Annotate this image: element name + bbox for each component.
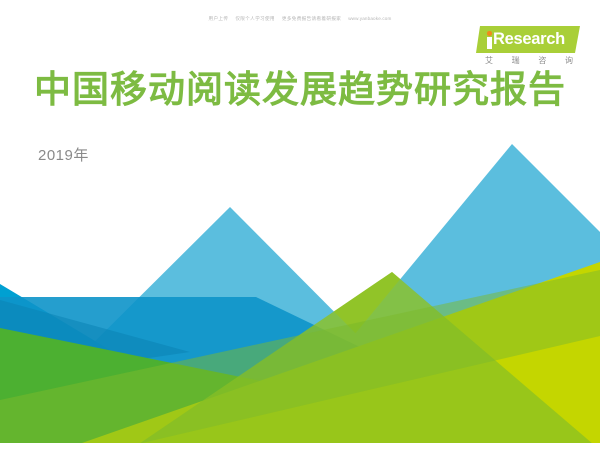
disclaimer-line-2: 仅限个人学习使用	[235, 17, 275, 22]
report-cover: 用户上传 仅限个人学习使用 更多免费报告请看着研报家 www.yanbaoke.…	[0, 0, 600, 450]
disclaimer-bar: 用户上传 仅限个人学习使用 更多免费报告请看着研报家 www.yanbaoke.…	[0, 12, 600, 26]
logo-cn-char-1: 艾	[485, 57, 493, 65]
logo-mark: Research	[476, 26, 580, 53]
logo-wordmark: Research	[486, 26, 565, 53]
disclaimer-line-1: 用户上传	[209, 17, 229, 22]
logo-cn-char-2: 瑞	[512, 57, 520, 65]
report-year: 2019年	[38, 148, 89, 163]
logo-cn-char-4: 询	[565, 57, 573, 65]
abstract-mountain-graphic	[0, 0, 600, 450]
page-title: 中国移动阅读发展趋势研究报告	[34, 70, 566, 111]
disclaimer-line-3: 更多免费报告请看着研报家	[282, 17, 341, 22]
logo-i-dot-icon	[487, 31, 492, 36]
logo-letter-i-icon	[486, 30, 493, 49]
logo-i-stem-icon	[487, 37, 492, 49]
bottom-white-trim	[0, 443, 600, 450]
disclaimer-url[interactable]: www.yanbaoke.com	[348, 17, 391, 22]
logo-wordmark-text: Research	[493, 31, 565, 48]
logo-chinese-subtitle: 艾 瑞 咨 询	[476, 57, 580, 65]
iresearch-logo[interactable]: Research 艾 瑞 咨 询	[476, 26, 580, 65]
logo-cn-char-3: 咨	[538, 57, 546, 65]
